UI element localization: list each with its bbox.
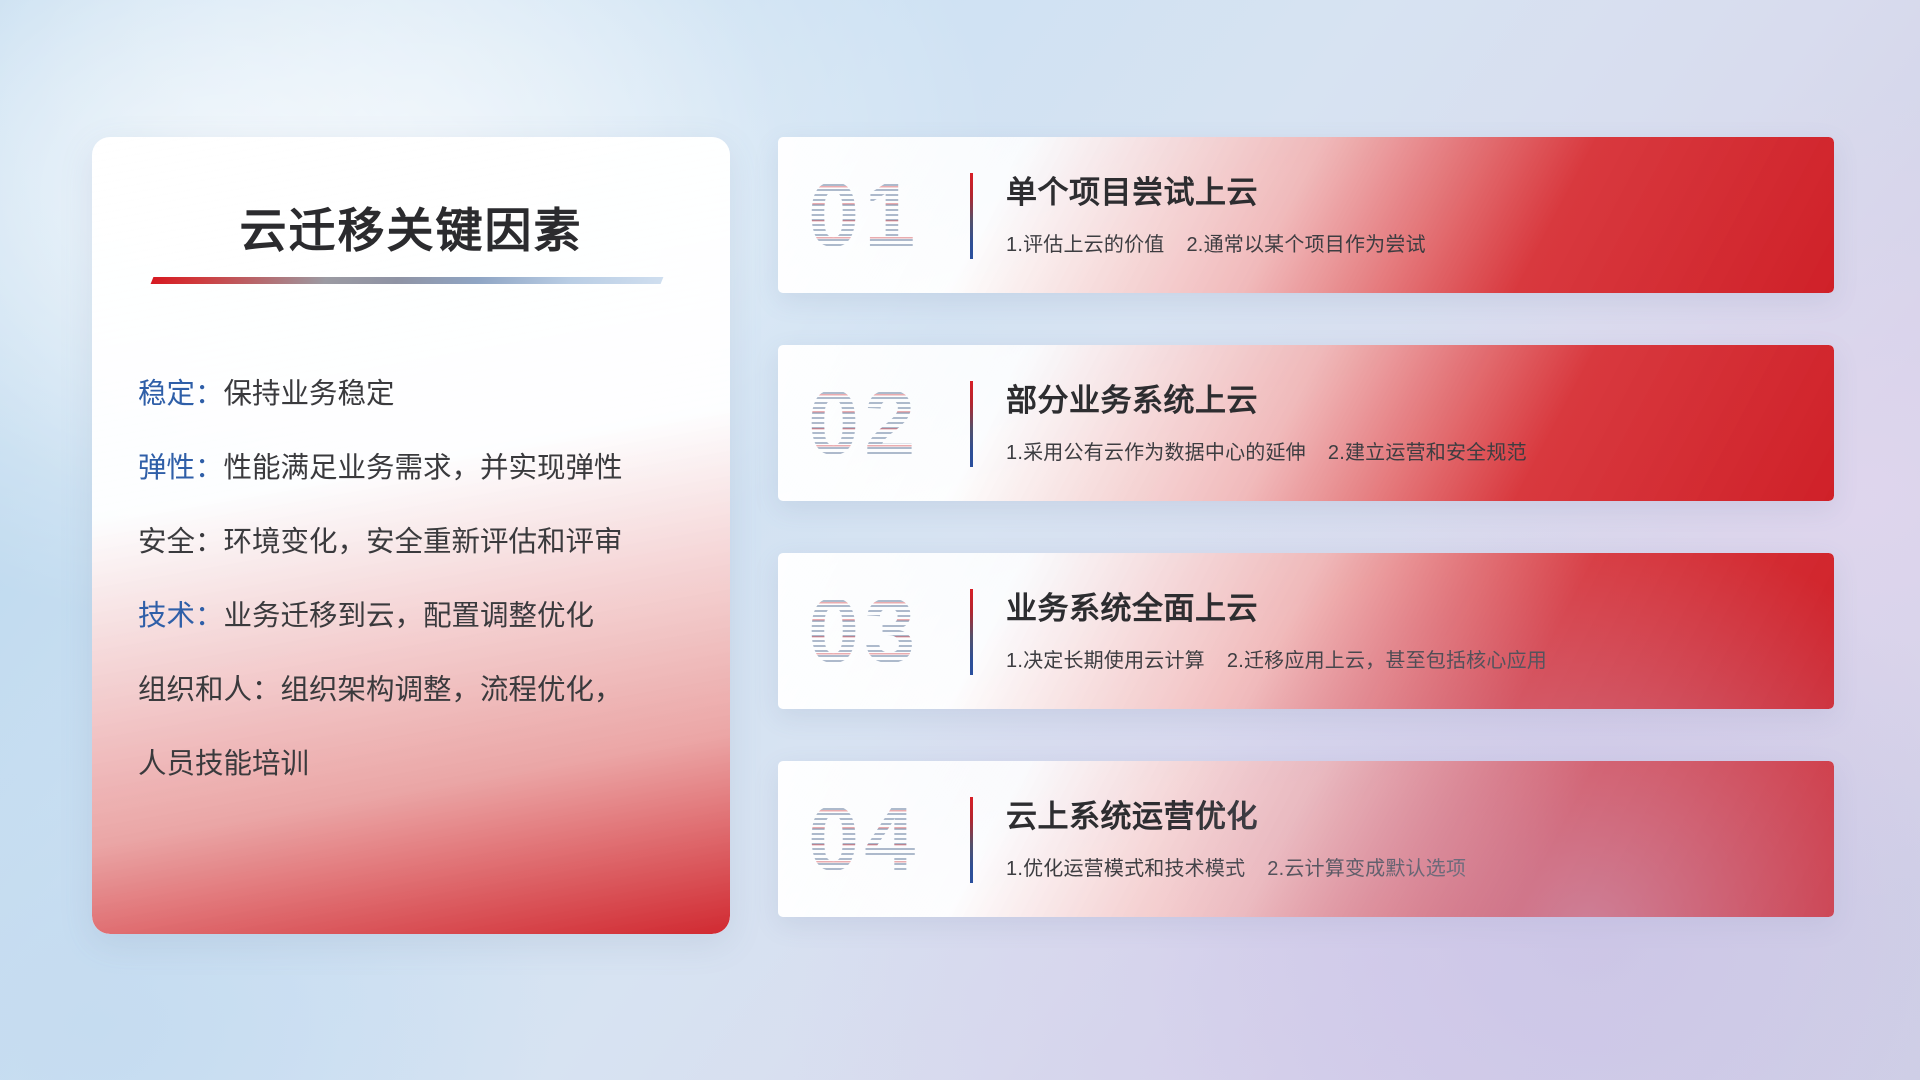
factor-label: 安全： bbox=[138, 526, 224, 558]
factor-text: 人员技能培训 bbox=[138, 748, 309, 780]
stage-divider bbox=[970, 797, 973, 883]
factor-text: 业务迁移到云，配置调整优化 bbox=[224, 600, 595, 632]
stage-divider bbox=[970, 589, 973, 675]
factor-label: 稳定： bbox=[138, 378, 224, 410]
stage-description: 1.优化运营模式和技术模式2.云计算变成默认选项 bbox=[1006, 852, 1810, 881]
stage-description: 1.采用公有云作为数据中心的延伸2.建立运营和安全规范 bbox=[1006, 436, 1810, 465]
factor-label: 组织和人： bbox=[138, 674, 281, 706]
stage-point: 2.迁移应用上云，甚至包括核心应用 bbox=[1227, 650, 1547, 672]
factor-label: 技术： bbox=[138, 600, 224, 632]
stage-description: 1.评估上云的价值2.通常以某个项目作为尝试 bbox=[1006, 228, 1810, 257]
title-underline-accent bbox=[151, 277, 664, 284]
stage-card-01[interactable]: 01 01 单个项目尝试上云 1.评估上云的价值2.通常以某个项目作为尝试 bbox=[778, 137, 1834, 293]
stage-body: 业务系统全面上云 1.决定长期使用云计算2.迁移应用上云，甚至包括核心应用 bbox=[1006, 583, 1810, 673]
stage-point: 2.云计算变成默认选项 bbox=[1267, 858, 1466, 880]
migration-stage-list: 01 01 单个项目尝试上云 1.评估上云的价值2.通常以某个项目作为尝试 02… bbox=[778, 137, 1834, 969]
list-item: 安全：环境变化，安全重新评估和评审 bbox=[138, 505, 704, 579]
stage-point: 2.通常以某个项目作为尝试 bbox=[1186, 234, 1425, 256]
list-item: 技术：业务迁移到云，配置调整优化 bbox=[138, 579, 704, 653]
stage-body: 部分业务系统上云 1.采用公有云作为数据中心的延伸2.建立运营和安全规范 bbox=[1006, 375, 1810, 465]
stage-divider bbox=[970, 173, 973, 259]
factor-label: 弹性： bbox=[138, 452, 224, 484]
stage-number-watermark: 03 bbox=[808, 585, 920, 677]
stage-card-02[interactable]: 02 02 部分业务系统上云 1.采用公有云作为数据中心的延伸2.建立运营和安全… bbox=[778, 345, 1834, 501]
stage-card-03[interactable]: 03 03 业务系统全面上云 1.决定长期使用云计算2.迁移应用上云，甚至包括核… bbox=[778, 553, 1834, 709]
stage-point: 1.评估上云的价值 bbox=[1006, 234, 1164, 256]
stage-title: 部分业务系统上云 bbox=[1006, 375, 1810, 420]
list-item: 弹性：性能满足业务需求，并实现弹性 bbox=[138, 431, 704, 505]
stage-point: 1.采用公有云作为数据中心的延伸 bbox=[1006, 442, 1306, 464]
stage-title: 云上系统运营优化 bbox=[1006, 791, 1810, 836]
list-item: 稳定：保持业务稳定 bbox=[138, 357, 704, 431]
page-title: 云迁移关键因素 bbox=[92, 192, 730, 261]
factor-text: 保持业务稳定 bbox=[224, 378, 395, 410]
factor-text: 组织架构调整，流程优化， bbox=[281, 674, 623, 706]
list-item: 组织和人：组织架构调整，流程优化， bbox=[138, 653, 704, 727]
factor-list: 稳定：保持业务稳定 弹性：性能满足业务需求，并实现弹性 安全：环境变化，安全重新… bbox=[138, 357, 704, 801]
stage-body: 单个项目尝试上云 1.评估上云的价值2.通常以某个项目作为尝试 bbox=[1006, 167, 1810, 257]
stage-divider bbox=[970, 381, 973, 467]
factor-text: 环境变化，安全重新评估和评审 bbox=[224, 526, 623, 558]
stage-number-watermark: 02 bbox=[808, 377, 920, 469]
stage-title: 业务系统全面上云 bbox=[1006, 583, 1810, 628]
stage-title: 单个项目尝试上云 bbox=[1006, 167, 1810, 212]
stage-description: 1.决定长期使用云计算2.迁移应用上云，甚至包括核心应用 bbox=[1006, 644, 1810, 673]
stage-number-watermark: 04 bbox=[808, 793, 920, 885]
key-factors-panel: 云迁移关键因素 稳定：保持业务稳定 弹性：性能满足业务需求，并实现弹性 安全：环… bbox=[92, 137, 730, 934]
stage-card-04[interactable]: 04 04 云上系统运营优化 1.优化运营模式和技术模式2.云计算变成默认选项 bbox=[778, 761, 1834, 917]
slide-canvas: 云迁移关键因素 稳定：保持业务稳定 弹性：性能满足业务需求，并实现弹性 安全：环… bbox=[0, 0, 1920, 1080]
stage-point: 2.建立运营和安全规范 bbox=[1328, 442, 1527, 464]
factor-text: 性能满足业务需求，并实现弹性 bbox=[224, 452, 623, 484]
stage-number-watermark: 01 bbox=[808, 169, 920, 261]
list-item-continuation: 人员技能培训 bbox=[138, 727, 704, 801]
stage-body: 云上系统运营优化 1.优化运营模式和技术模式2.云计算变成默认选项 bbox=[1006, 791, 1810, 881]
stage-point: 1.决定长期使用云计算 bbox=[1006, 650, 1205, 672]
stage-point: 1.优化运营模式和技术模式 bbox=[1006, 858, 1245, 880]
